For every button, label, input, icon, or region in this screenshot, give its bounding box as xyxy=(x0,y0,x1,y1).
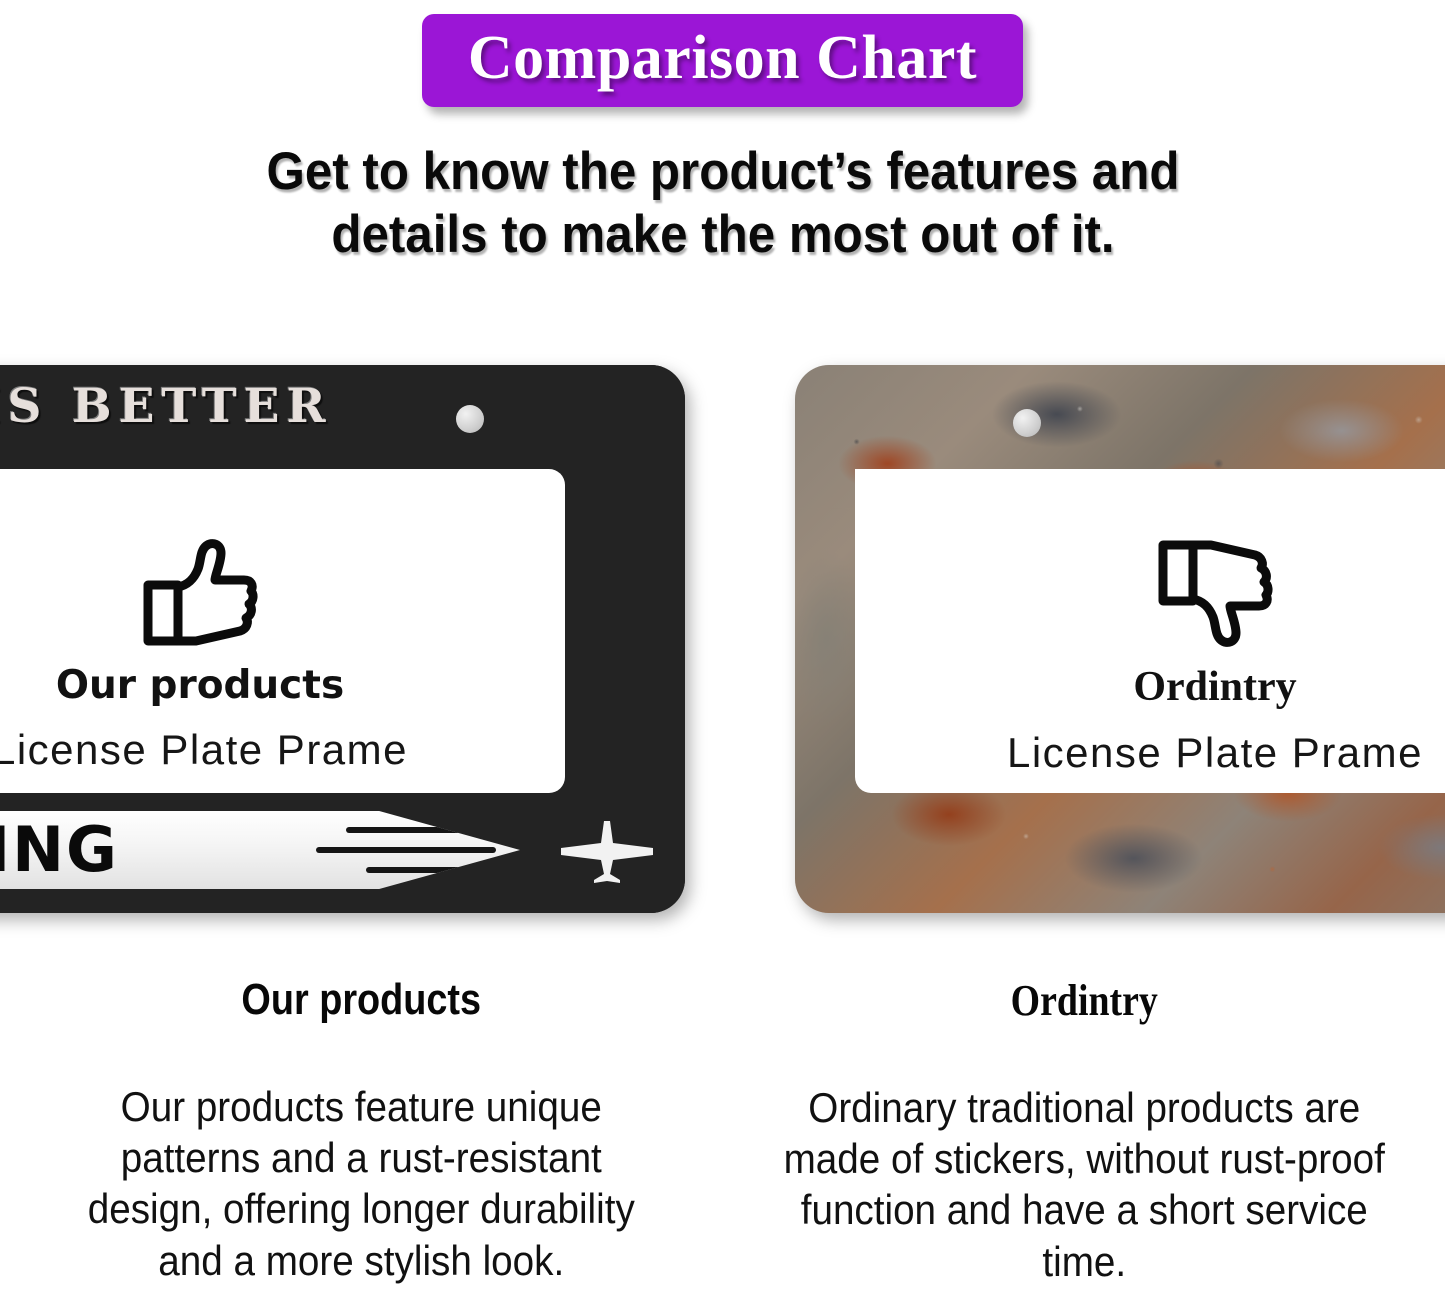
title-banner: Comparison Chart xyxy=(422,14,1023,107)
thumbs-down-icon xyxy=(1151,535,1279,651)
product-frames-row: FE IS BETTER FLYING Our products License… xyxy=(0,365,1445,920)
screw-hole-icon xyxy=(456,405,484,433)
our-product-inner-subtitle: License Plate Prame xyxy=(0,726,520,774)
page-header: Comparison Chart Get to know the product… xyxy=(0,0,1445,266)
flying-text: FLYING xyxy=(0,813,119,886)
page-subtitle: Get to know the product’s features and d… xyxy=(169,141,1276,266)
ordinary-product-inner-heading: Ordintry xyxy=(855,663,1445,711)
ordinary-product-inner-subtitle: License Plate Prame xyxy=(855,729,1445,777)
ordinary-product-description-text: Ordinary traditional products are made o… xyxy=(779,1082,1389,1287)
screw-hole-icon xyxy=(1013,409,1041,437)
ordinary-product-plate-frame: Ordintry License Plate Prame xyxy=(795,365,1445,913)
comparison-description-row: Our products Our products feature unique… xyxy=(0,975,1445,1314)
our-product-description-column: Our products Our products feature unique… xyxy=(0,975,723,1314)
airplane-icon xyxy=(547,817,667,883)
thumbs-up-icon xyxy=(136,535,264,651)
ordinary-product-bottom-heading: Ordintry xyxy=(799,975,1369,1026)
ordinary-product-window-content: Ordintry License Plate Prame xyxy=(855,535,1445,777)
our-product-bottom-heading: Our products xyxy=(76,975,646,1025)
subtitle-line-1: Get to know the product’s features and xyxy=(169,141,1276,204)
plate-taper-top-right xyxy=(855,469,927,525)
speed-line-icon xyxy=(316,847,496,853)
page-title: Comparison Chart xyxy=(468,26,977,91)
plate-taper-top-left xyxy=(445,469,507,521)
subtitle-line-2: details to make the most out of it. xyxy=(169,204,1276,267)
our-product-plate-frame: FE IS BETTER FLYING Our products License… xyxy=(0,365,685,913)
our-product-window-content: Our products License Plate Prame xyxy=(0,535,520,774)
ordinary-product-description-column: Ordintry Ordinary traditional products a… xyxy=(723,975,1445,1314)
our-product-description-text: Our products feature unique patterns and… xyxy=(57,1081,667,1286)
plate-caption-text: FE IS BETTER xyxy=(0,379,333,434)
our-product-inner-heading: Our products xyxy=(0,663,520,708)
